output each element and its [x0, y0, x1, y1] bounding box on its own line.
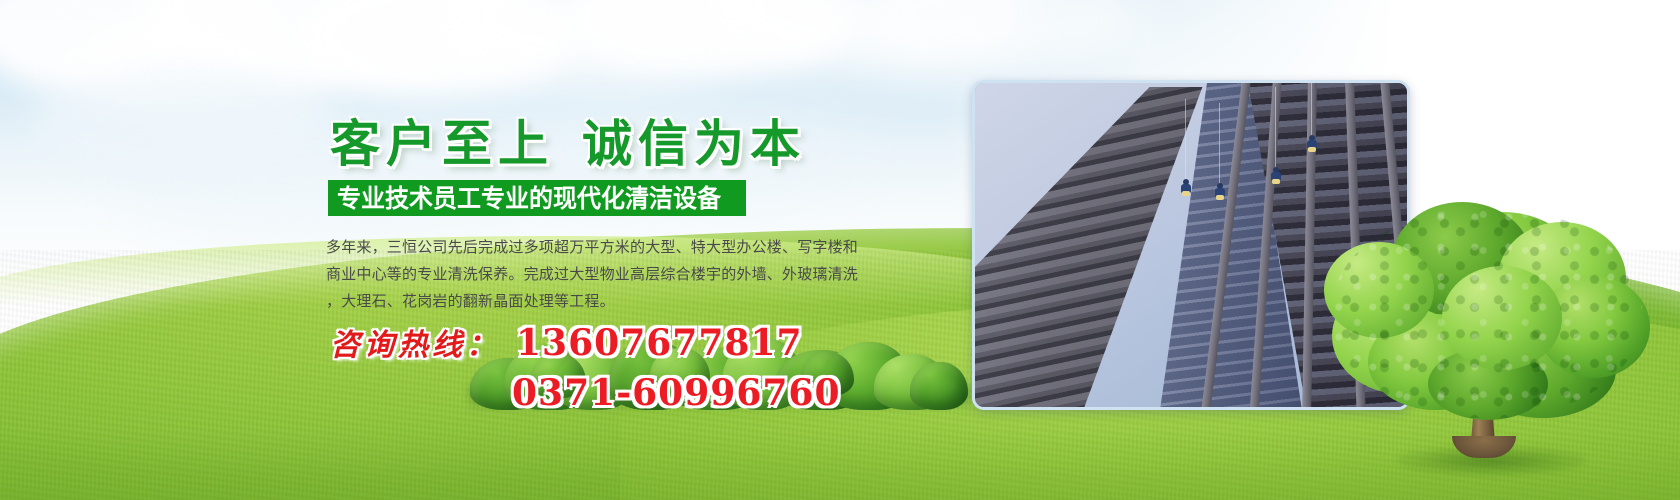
headline-part-2: 诚信为本 [582, 114, 806, 173]
hotline-row-primary: 咨询热线： 13607677817 [330, 320, 841, 364]
headline-part-1: 客户至上 [330, 114, 554, 173]
rope-access-worker-1 [1181, 179, 1191, 199]
description-line-1: 多年来，三恒公司先后完成过多项超万平方米的大型、特大型办公楼、写字楼和 [326, 234, 906, 261]
hotline-landline-number[interactable]: 0371-60996760 [512, 372, 841, 414]
rope-access-worker-3 [1271, 167, 1281, 187]
promo-banner: 客户至上诚信为本 专业技术员工专业的现代化清洁设备 多年来，三恒公司先后完成过多… [0, 0, 1680, 500]
rope-access-worker-4 [1307, 135, 1317, 155]
hotline-mobile-number[interactable]: 13607677817 [516, 322, 803, 364]
large-green-tree [1322, 198, 1652, 468]
subtitle-bar-label: 专业技术员工专业的现代化清洁设备 [337, 186, 721, 211]
subtitle-bar: 专业技术员工专业的现代化清洁设备 [328, 180, 746, 216]
hotline-label: 咨询热线： [330, 320, 500, 364]
hotline-row-secondary: 0371-60996760 [330, 372, 841, 414]
description-paragraph: 多年来，三恒公司先后完成过多项超万平方米的大型、特大型办公楼、写字楼和 商业中心… [326, 234, 906, 315]
hotline-block: 咨询热线： 13607677817 0371-60996760 [330, 320, 841, 414]
description-line-2: 商业中心等的专业清洗保养。完成过大型物业高层综合楼宇的外墙、外玻璃清洗 [326, 261, 906, 288]
rope-access-worker-2 [1215, 183, 1225, 203]
page-title: 客户至上诚信为本 [330, 104, 806, 176]
description-line-3: ，大理石、花岗岩的翻新晶面处理等工程。 [326, 288, 906, 315]
